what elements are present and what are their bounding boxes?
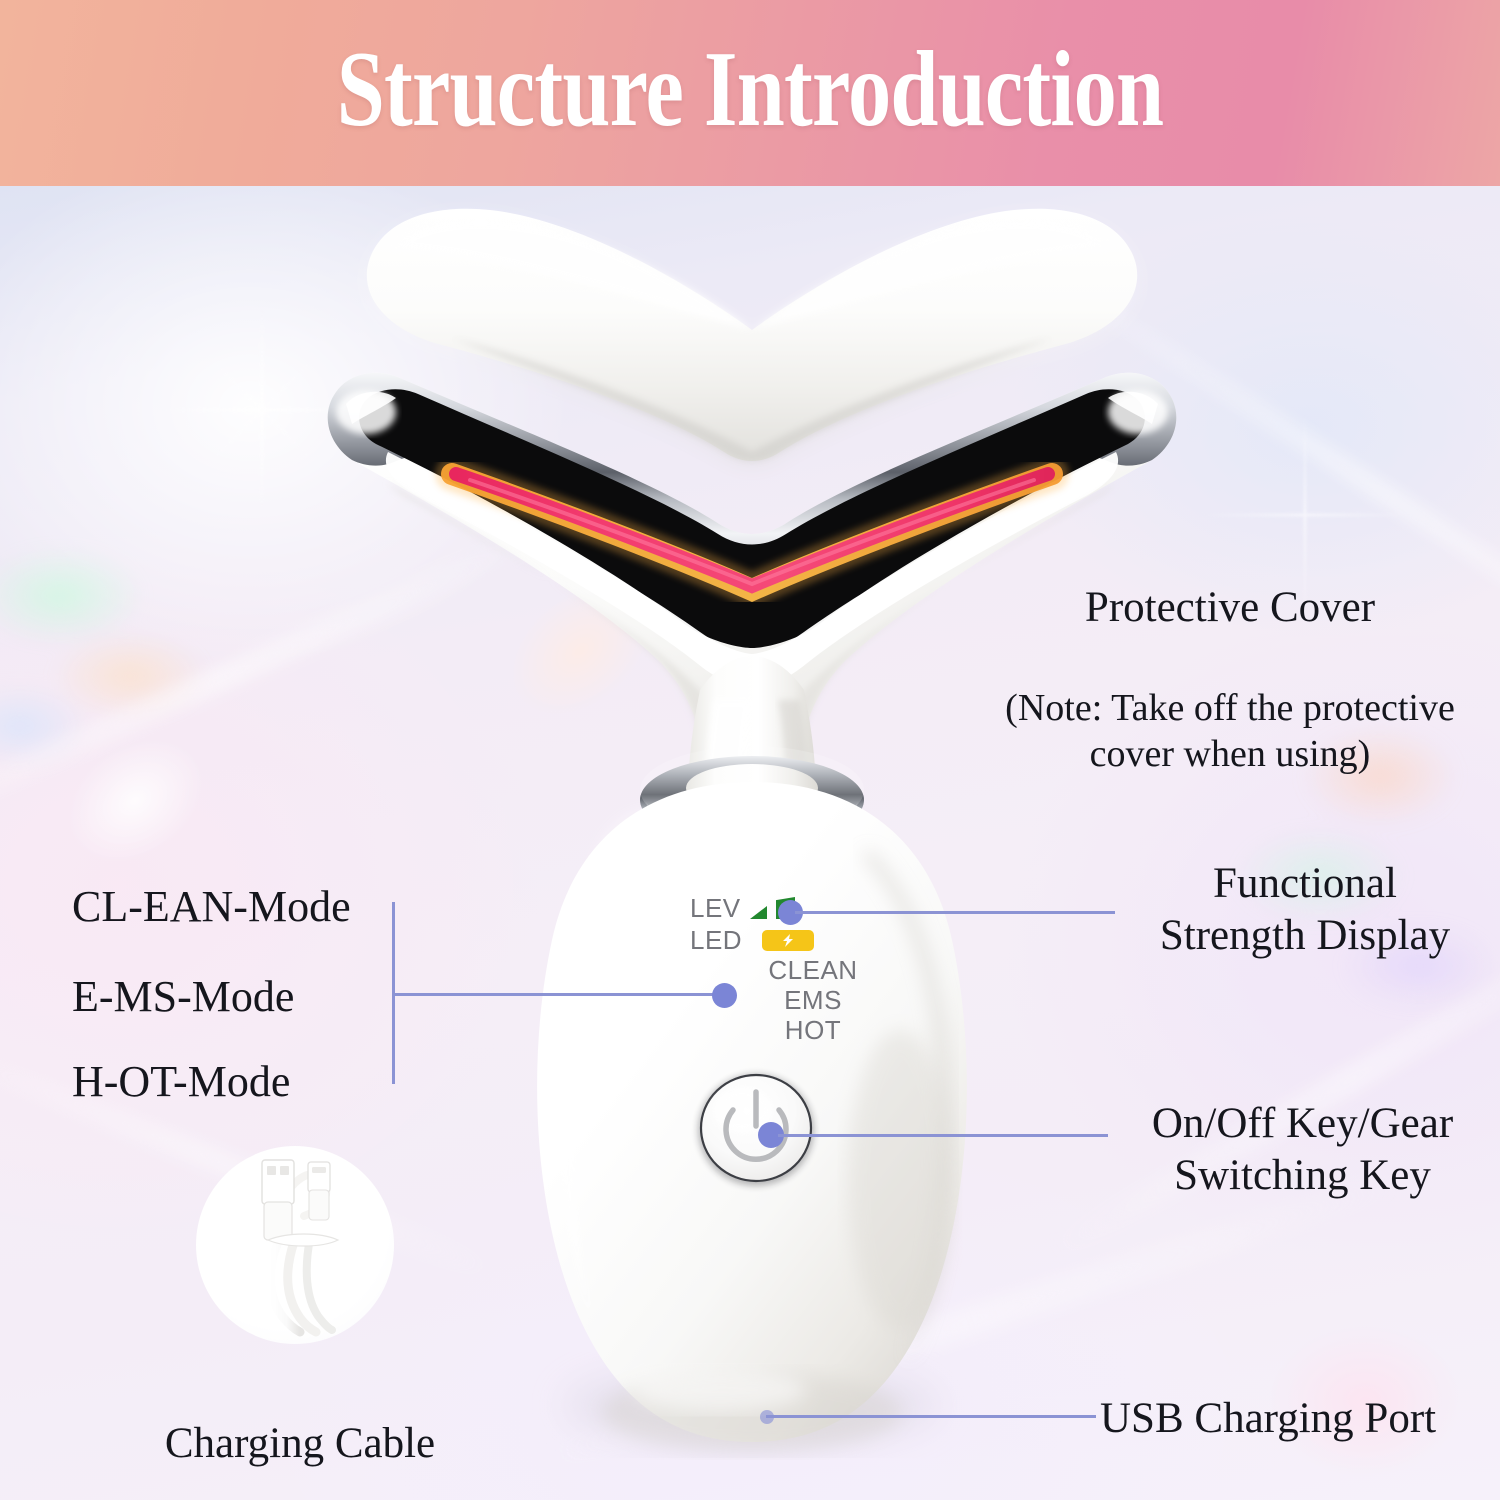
page-title: Structure Introduction bbox=[150, 0, 1350, 186]
bokeh-dot-2 bbox=[483, 557, 676, 744]
infographic-canvas: LEV LED CLEAN EMS HOT bbox=[0, 0, 1500, 1500]
callout-charging-cable: Charging Cable (Package included) bbox=[80, 1398, 520, 1500]
usb-cable-icon bbox=[196, 1146, 394, 1344]
callout-clean-mode: CL-EAN-Mode bbox=[72, 880, 351, 934]
callout-usb-charging-port: USB Charging Port bbox=[1100, 1393, 1500, 1445]
connector-line-modes-horizontal bbox=[392, 993, 724, 996]
connector-line-power-button bbox=[778, 1134, 1108, 1137]
callout-functional-strength-display: Functional Strength Display bbox=[1110, 858, 1500, 963]
connector-line-usb-port bbox=[766, 1415, 1096, 1418]
connector-dot-modes bbox=[712, 983, 737, 1008]
callout-charging-cable-title: Charging Cable bbox=[80, 1418, 520, 1470]
callout-on-off-key: On/Off Key/Gear Switching Key bbox=[1105, 1098, 1500, 1203]
charging-cable-photo-circle bbox=[196, 1146, 394, 1344]
callout-protective-cover-title: Protective Cover bbox=[960, 582, 1500, 634]
callout-charging-cable-note: (Package included) bbox=[80, 1491, 520, 1500]
callout-hot-mode: H-OT-Mode bbox=[72, 1055, 290, 1109]
micro-usb-connector bbox=[308, 1162, 330, 1220]
callout-ems-mode: E-MS-Mode bbox=[72, 970, 294, 1024]
callout-protective-cover-note: (Note: Take off the protective cover whe… bbox=[960, 685, 1500, 778]
connector-line-functional-display bbox=[795, 911, 1115, 914]
usb-a-connector bbox=[262, 1160, 294, 1240]
callout-protective-cover: Protective Cover (Note: Take off the pro… bbox=[960, 533, 1500, 827]
header-banner: Structure Introduction bbox=[0, 0, 1500, 186]
